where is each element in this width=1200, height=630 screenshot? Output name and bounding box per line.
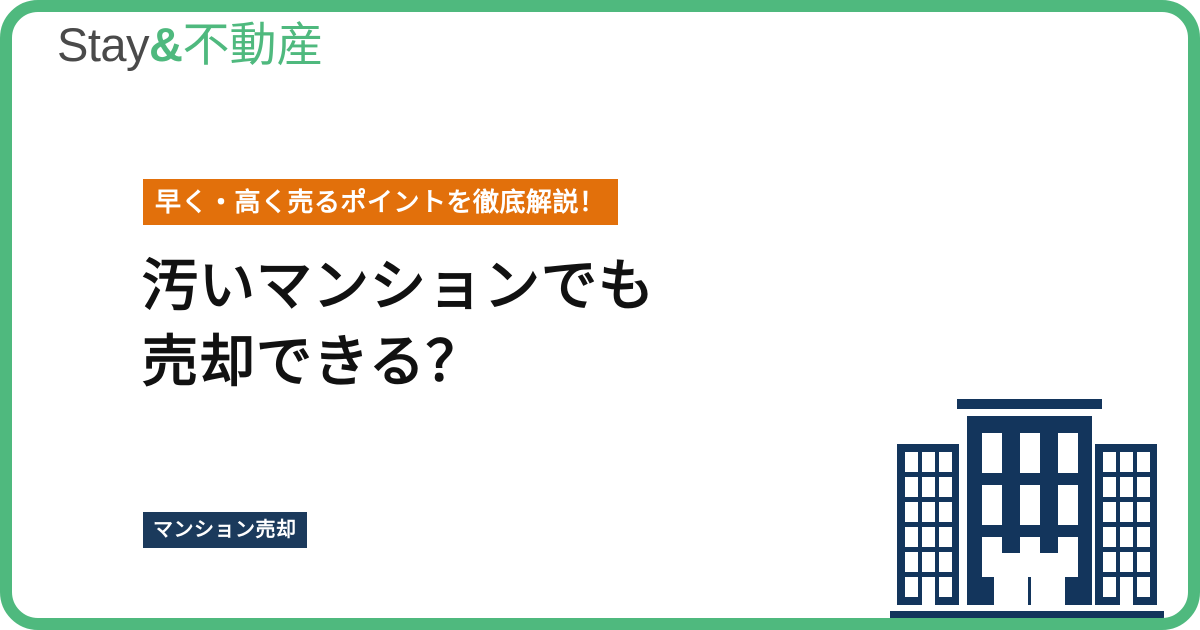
apartment-buildings-illustration	[872, 387, 1182, 630]
category-tag[interactable]: マンション売却	[143, 512, 307, 548]
headline-line-1: 汚いマンションでも	[142, 248, 655, 324]
site-logo[interactable]: Stay&不動産	[57, 18, 324, 72]
ground-bar	[890, 611, 1164, 625]
promo-card: Stay&不動産 早く・高く売るポイントを徹底解説！ 汚いマンションでも 売却で…	[0, 0, 1200, 630]
headline-line-2: 売却できる？	[142, 324, 655, 400]
right-building	[1095, 444, 1157, 605]
logo-ampersand: &	[149, 18, 182, 71]
center-building	[957, 399, 1102, 605]
left-building	[897, 444, 959, 605]
logo-text-japanese: 不動産	[183, 18, 324, 71]
eyebrow-badge: 早く・高く売るポイントを徹底解説！	[143, 179, 618, 225]
logo-text-latin: Stay	[57, 18, 149, 71]
page-title: 汚いマンションでも 売却できる？	[142, 248, 655, 400]
